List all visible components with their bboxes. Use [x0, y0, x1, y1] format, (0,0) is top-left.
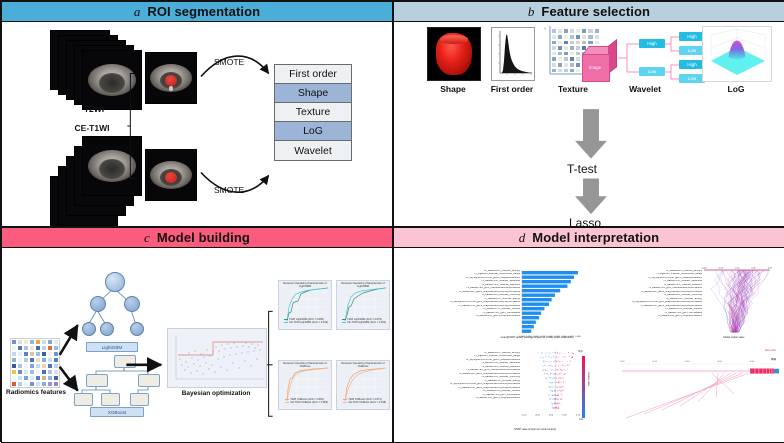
t2wi-image-stack: [50, 30, 136, 100]
feature-row-wavelet: Wavelet: [275, 141, 351, 160]
segmented-slice-cet1wi: [145, 149, 197, 201]
lightgbm-leaf-3: [130, 322, 144, 336]
svg-text:-0.15: -0.15: [652, 361, 658, 363]
first-order-caption: First order: [484, 84, 540, 94]
lightgbm-tree: LightGBM: [74, 270, 164, 350]
cet1wi-image-stack: [50, 134, 136, 204]
xgboost-leaf-1: [74, 393, 93, 406]
feature-label: T2_wavelet-LHL_glszm_GrayLevelVariance: [432, 315, 520, 318]
shap-beeswarm-plot: T2_wavelet-LHL_firstorder_EntropyT2_loga…: [432, 348, 592, 436]
xgboost-model-label: XGBoost: [90, 407, 144, 417]
panel-roi-segmentation: a ROI segmentation T2WI: [1, 1, 393, 227]
roc-legend-3: T2WI XGBoost (AUC = 0.864) CE-T1WI XGBoo…: [285, 398, 328, 404]
t2wi-top-slice: [82, 50, 142, 110]
smote-label-top: SMOTE: [214, 57, 244, 67]
xgboost-leaf-3: [130, 393, 149, 406]
lightgbm-leaf-2: [100, 322, 114, 336]
shap-decision-feature-labels: T2_wavelet-LHL_firstorder_EntropyT2_loga…: [624, 270, 702, 319]
bayesian-scatter-svg: [168, 329, 266, 387]
log-surface-svg: [703, 27, 771, 81]
radiomics-workflow-figure: a ROI segmentation T2WI: [0, 0, 784, 442]
roc-plot-lightgbm-2: Receiver Operating Characteristic of Lig…: [336, 280, 390, 330]
wavelet-l1-high: High: [639, 39, 665, 48]
cet1wi-top-slice: [82, 136, 142, 196]
cet1wi-label: CE-T1WI: [57, 123, 127, 133]
shap-beeswarm-feature-labels: T2_wavelet-LHL_firstorder_EntropyT2_loga…: [432, 352, 520, 401]
shap-decision-xlabel: Model output value: [702, 336, 766, 339]
radiomics-features-label: Radiomics features: [2, 389, 70, 396]
svg-text:-0.10: -0.10: [685, 361, 691, 363]
xgboost-tree: XGBoost: [72, 353, 168, 415]
feature-row-shape: Shape: [275, 84, 351, 103]
svg-text:0.10: 0.10: [576, 414, 581, 416]
panel-a-title: ROI segmentation: [147, 4, 260, 19]
svg-text:-0.05: -0.05: [717, 361, 723, 363]
svg-text:-0.04: -0.04: [718, 268, 724, 270]
svg-text:0.00: 0.00: [751, 268, 756, 270]
xgboost-node-1: [86, 374, 108, 387]
feature-row-log: LoG: [275, 122, 351, 141]
svg-text:-0.05: -0.05: [535, 414, 541, 416]
log-caption: LoG: [716, 84, 756, 94]
shap-beeswarm-xlabel: SHAP value (impact on model output): [490, 428, 580, 431]
svg-text:0.00: 0.00: [549, 414, 554, 416]
svg-text:0.00: 0.00: [750, 361, 755, 363]
feature-row-first-order: First order: [275, 65, 351, 84]
shap-bar-plot: T2_wavelet-LHL_firstorder_EntropyT2_loga…: [432, 266, 582, 346]
bayesian-optimization-label: Bayesian optimization: [167, 390, 265, 397]
feature-category-table: First order Shape Texture LoG Wavelet: [274, 64, 352, 161]
panel-b-title: Feature selection: [541, 4, 650, 19]
t2wi-label: T2WI: [64, 104, 124, 114]
panel-d-title: Model interpretation: [532, 230, 659, 245]
first-order-histogram: [491, 27, 535, 81]
shap-colorbar-high: High: [578, 351, 583, 353]
svg-text:-0.02: -0.02: [735, 268, 741, 270]
wavelet-l1-low: Low: [639, 67, 665, 76]
histogram-svg: [492, 28, 534, 80]
log-surface-plot: [702, 26, 772, 82]
image-cube-label: Image: [582, 54, 608, 80]
svg-text:-0.06: -0.06: [702, 268, 708, 270]
panel-b-header: b Feature selection: [394, 2, 784, 22]
xgboost-root-node: [114, 355, 136, 368]
lasso-label: Lasso: [569, 216, 601, 227]
roc-title-2: Receiver Operating Characteristic of Lig…: [337, 282, 389, 288]
lightgbm-model-label: LightGBM: [86, 342, 138, 352]
panel-c-title: Model building: [157, 230, 250, 245]
shap-colorbar-low: Low: [579, 419, 583, 421]
panel-b-body: Shape First order: [394, 22, 784, 226]
shap-force-svg: -0.20-0.15-0.10-0.050.00: [612, 348, 780, 436]
feature-row-texture: Texture: [275, 103, 351, 122]
texture-caption: Texture: [546, 84, 600, 94]
shap-colorbar: [582, 356, 585, 418]
roc-title-3: Receiver Operating Characteristic of XGB…: [279, 362, 331, 368]
panel-model-interpretation: d Model interpretation T2_wavelet-LHL_fi…: [393, 227, 784, 443]
panel-d-letter: d: [519, 230, 526, 246]
svg-text:-0.20: -0.20: [620, 361, 626, 363]
roc-legend-1: T2WI LightGBM (AUC = 0.885) CE-T1WI Ligh…: [284, 318, 328, 324]
shap-force-output: f(x): [771, 357, 776, 361]
roc-legend-4: T2WI XGBoost (AUC = 0.871) CE-T1WI XGBoo…: [343, 398, 386, 404]
roc-legend-2: T2WI LightGBM (AUC = 0.879) CE-T1WI Ligh…: [342, 318, 386, 324]
panel-d-header: d Model interpretation: [394, 228, 784, 248]
feature-label: T2_wavelet-LHL_glszm_GrayLevelVariance: [624, 315, 702, 318]
roc-plot-xgboost-1: Receiver Operating Characteristic of XGB…: [278, 360, 332, 410]
feature-label: T2_wavelet-LHL_glszm_GrayLevelVariance: [432, 397, 520, 400]
wavelet-tree: Image High Low High Low High Low: [579, 32, 719, 84]
lightgbm-leaf-1: [82, 322, 96, 336]
lightgbm-node-2: [124, 296, 140, 312]
panel-d-body: T2_wavelet-LHL_firstorder_EntropyT2_loga…: [394, 248, 784, 442]
radiomics-feature-heatmap: [10, 338, 60, 388]
texture-y-axis-label: Y: [544, 27, 546, 31]
shape-caption: Shape: [427, 84, 479, 94]
svg-text:-0.10: -0.10: [522, 414, 528, 416]
shap-bar-feature-labels: T2_wavelet-LHL_firstorder_EntropyT2_loga…: [432, 270, 520, 319]
shap-colorbar-label: Feature value: [587, 372, 589, 386]
segmented-slice-t2wi: [145, 52, 197, 104]
panel-a-letter: a: [134, 4, 141, 20]
lightgbm-root-node: [105, 272, 125, 292]
wavelet-caption: Wavelet: [615, 84, 675, 94]
shap-bar-xlabel: mean(|SHAP value|) (average impact on mo…: [492, 336, 582, 339]
panel-c-header: c Model building: [2, 228, 392, 248]
panel-a-header: a ROI segmentation: [2, 2, 392, 22]
shap-force-legend: base value: [765, 350, 776, 352]
panel-model-building: c Model building Radiomics features: [1, 227, 393, 443]
svg-text:0.02: 0.02: [768, 268, 773, 270]
roc-plot-xgboost-2: Receiver Operating Characteristic of XGB…: [336, 360, 390, 410]
panel-c-body: Radiomics features LightGBM: [2, 248, 392, 442]
roc-title-1: Receiver Operating Characteristic of Lig…: [279, 282, 331, 288]
t-test-label: T-test: [567, 162, 597, 176]
bayesian-optimization-plot: [167, 328, 267, 388]
roc-plot-lightgbm-1: Receiver Operating Characteristic of Lig…: [278, 280, 332, 330]
panel-b-letter: b: [528, 4, 535, 20]
shap-force-plot: -0.20-0.15-0.10-0.050.00 base value f(x): [612, 348, 780, 436]
lightgbm-node-1: [90, 296, 106, 312]
panel-c-letter: c: [144, 230, 150, 246]
smote-label-bottom: SMOTE: [214, 185, 244, 195]
xgboost-node-2: [138, 374, 160, 387]
roc-title-4: Receiver Operating Characteristic of XGB…: [337, 362, 389, 368]
panel-a-body: T2WI CE-T1WI: [2, 22, 392, 226]
panel-feature-selection: b Feature selection Shape: [393, 1, 784, 227]
svg-text:0.05: 0.05: [562, 414, 567, 416]
shape-render: [427, 27, 481, 81]
shap-decision-plot: T2_wavelet-LHL_firstorder_EntropyT2_loga…: [624, 266, 774, 346]
xgboost-leaf-2: [101, 393, 120, 406]
